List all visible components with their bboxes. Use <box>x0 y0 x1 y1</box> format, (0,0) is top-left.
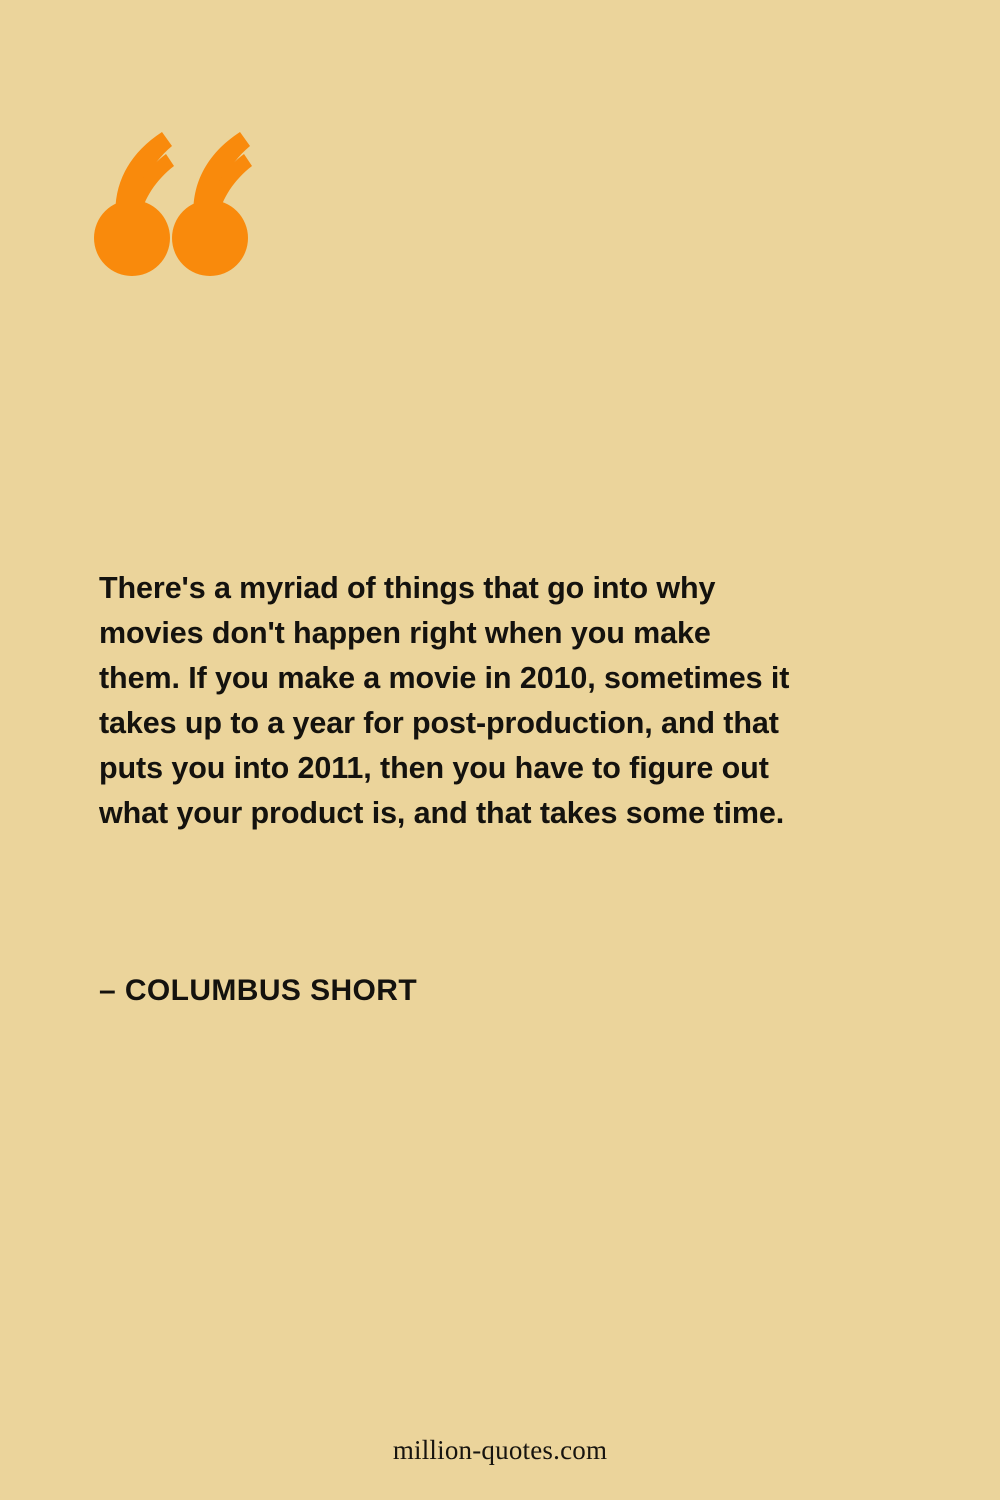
quote-text: There's a myriad of things that go into … <box>99 566 799 836</box>
opening-quote-mark-icon <box>94 126 254 278</box>
site-watermark: million-quotes.com <box>393 1435 607 1465</box>
quote-card: There's a myriad of things that go into … <box>0 0 1000 1500</box>
quote-body: There's a myriad of things that go into … <box>99 566 799 836</box>
footer: million-quotes.com <box>0 1435 1000 1466</box>
quote-attribution: – COLUMBUS SHORT <box>99 974 417 1008</box>
